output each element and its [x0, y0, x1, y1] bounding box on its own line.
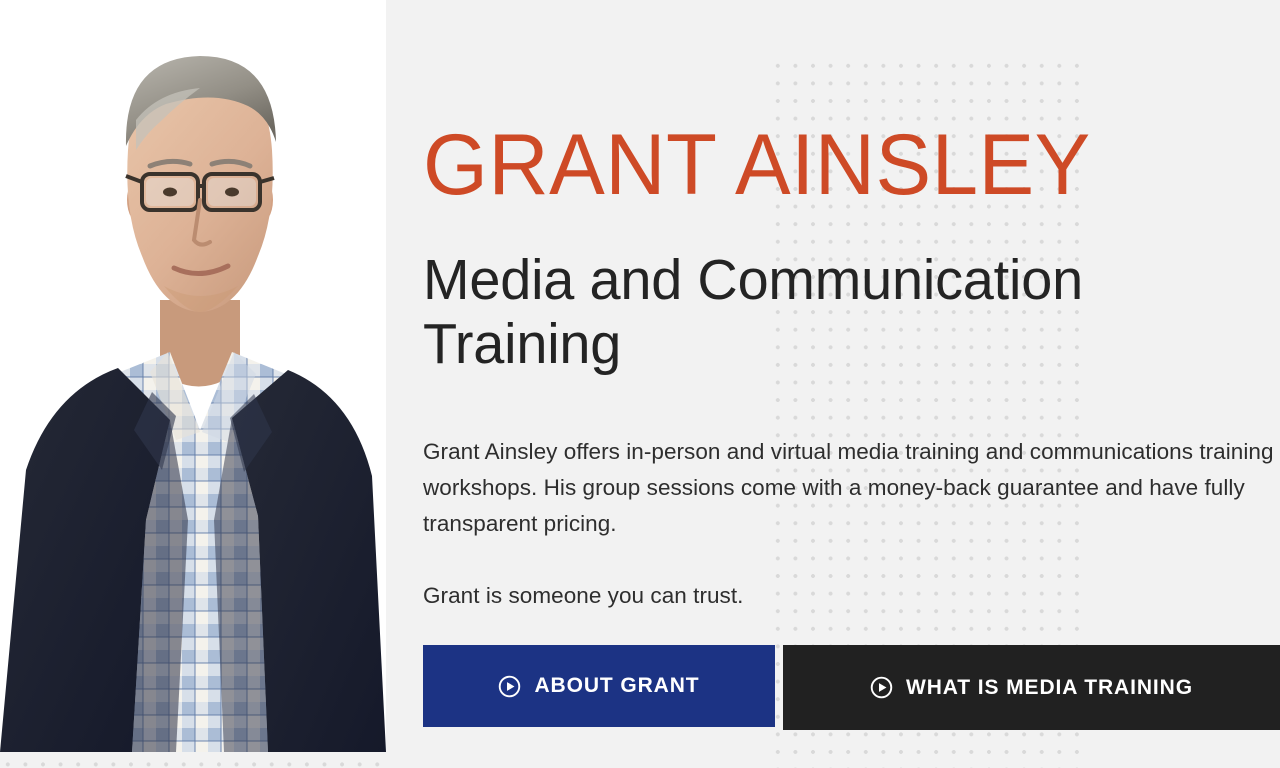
portrait-photo	[0, 0, 386, 752]
what-is-media-training-button-label: WHAT IS MEDIA TRAINING	[906, 676, 1193, 700]
dot-pattern-bottom-left	[0, 752, 392, 768]
page-subtitle: Media and Communication Training	[423, 248, 1197, 377]
hero-section: GRANT AINSLEY Media and Communication Tr…	[0, 0, 1280, 768]
about-grant-button[interactable]: ABOUT GRANT	[423, 645, 775, 727]
cta-button-row: ABOUT GRANT WHAT IS MEDIA TRAINING	[423, 645, 1280, 731]
intro-paragraph: Grant Ainsley offers in-person and virtu…	[423, 434, 1275, 542]
play-circle-icon	[498, 675, 521, 698]
play-circle-icon	[870, 676, 893, 699]
what-is-media-training-button[interactable]: WHAT IS MEDIA TRAINING	[783, 645, 1280, 730]
page-title: GRANT AINSLEY	[423, 122, 1091, 208]
about-grant-button-label: ABOUT GRANT	[534, 674, 699, 698]
trust-paragraph: Grant is someone you can trust.	[423, 578, 1275, 614]
hero-content: GRANT AINSLEY Media and Communication Tr…	[423, 0, 1280, 768]
portrait-illustration	[0, 0, 386, 752]
